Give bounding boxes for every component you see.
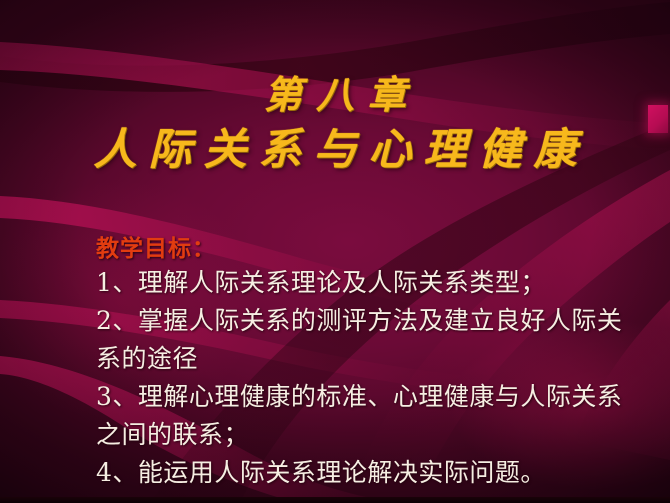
objective-item-4: 4、能运用人际关系理论解决实际问题。 xyxy=(96,454,640,492)
presentation-slide: 第八章 人际关系与心理健康 教学目标： 1、理解人际关系理论及人际关系类型； 2… xyxy=(0,0,670,503)
objectives-block: 教学目标： 1、理解人际关系理论及人际关系类型； 2、掌握人际关系的测评方法及建… xyxy=(96,234,640,492)
objective-item-2: 2、掌握人际关系的测评方法及建立良好人际关系的途径 xyxy=(96,302,640,378)
title-line-subject: 人际关系与心理健康 xyxy=(0,122,670,178)
objective-item-3: 3、理解心理健康的标准、心理健康与人际关系之间的联系； xyxy=(96,378,640,454)
objective-item-1: 1、理解人际关系理论及人际关系类型； xyxy=(96,264,640,302)
title-line-chapter: 第八章 xyxy=(0,72,670,118)
bottom-bar xyxy=(0,497,670,503)
slide-title: 第八章 人际关系与心理健康 xyxy=(0,72,670,178)
objectives-heading: 教学目标： xyxy=(96,234,640,264)
